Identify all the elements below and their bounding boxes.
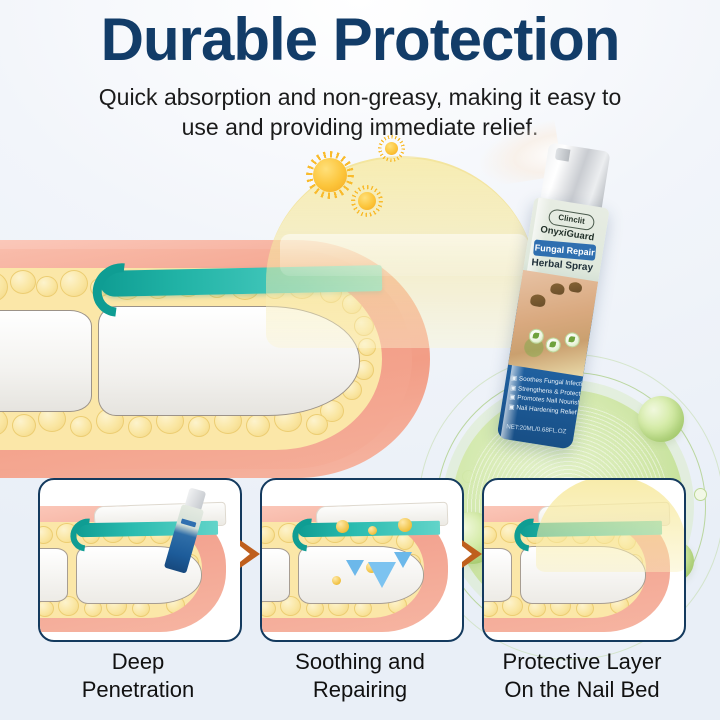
protective-dome-icon (536, 478, 686, 572)
product-infographic: Durable Protection Quick absorption and … (0, 0, 720, 720)
bone-proximal-phalanx (0, 310, 92, 412)
benefits-list: ▣ Soothes Fungal Infections ▣ Strengthen… (508, 374, 579, 418)
mini-cross-section (482, 506, 678, 638)
step-panel-protective-layer (482, 478, 686, 642)
step-caption-1: Deep Penetration (23, 648, 253, 704)
step-arrow-icon (240, 540, 260, 568)
foot-photo (508, 270, 598, 377)
serum-droplet (368, 526, 377, 535)
steps-section: Deep Penetration Soothing and Repairing … (0, 478, 720, 720)
nail-cross-section-diagram (0, 240, 450, 490)
absorption-arrow-icon (346, 560, 364, 576)
spray-nozzle-icon (555, 148, 571, 162)
serum-droplet (398, 518, 412, 532)
step-arrow-icon (462, 540, 482, 568)
page-title: Durable Protection (0, 8, 720, 72)
virus-particle-icon (313, 158, 347, 192)
absorption-arrow-icon (368, 562, 396, 588)
subtitle-line-2: use and providing immediate relief. (60, 112, 660, 142)
absorption-arrow-icon (394, 552, 412, 568)
subtitle-line-1: Quick absorption and non-greasy, making … (60, 82, 660, 112)
mini-cross-section (38, 506, 234, 638)
virus-particle-icon (385, 142, 398, 155)
page-subtitle: Quick absorption and non-greasy, making … (60, 82, 660, 142)
hero-illustration: Clinclit OnyxiGuard Fungal Repair Herbal… (0, 140, 720, 480)
step-caption-2: Soothing and Repairing (245, 648, 475, 704)
serum-droplet (336, 520, 349, 533)
virus-particle-icon (358, 192, 376, 210)
serum-droplet (332, 576, 341, 585)
step-caption-3: Protective Layer On the Nail Bed (467, 648, 697, 704)
step-panel-soothing-repairing (260, 478, 464, 642)
dome-highlight (280, 234, 528, 276)
step-panel-deep-penetration (38, 478, 242, 642)
green-sphere (638, 396, 684, 442)
